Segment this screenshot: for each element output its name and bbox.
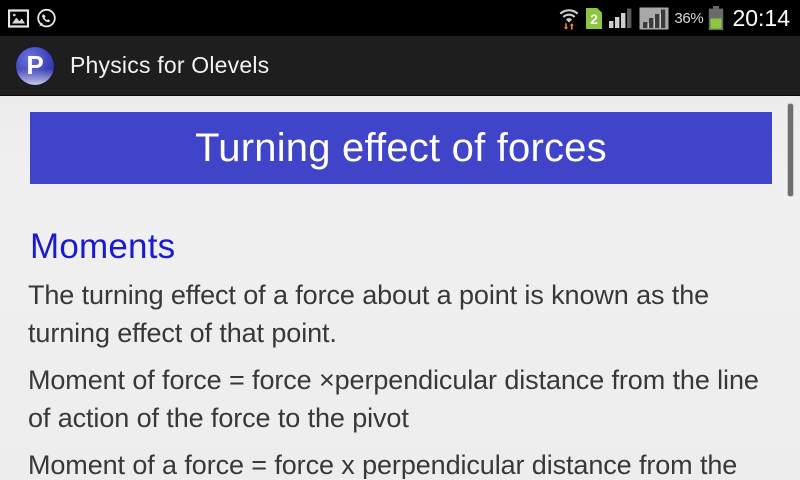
wifi-transfer-icon (558, 6, 580, 30)
status-bar-right-icons: 2 36% (558, 5, 790, 32)
battery-percent-label: 36% (674, 10, 703, 27)
app-bar: P Physics for Olevels (0, 36, 800, 96)
app-logo-p-icon: P (16, 47, 54, 85)
paragraph: Moment of force = force ×perpendicular d… (28, 361, 776, 437)
gallery-icon (8, 9, 29, 28)
signal-bars-sim1-icon (608, 7, 634, 29)
scrollbar-thumb[interactable] (788, 104, 793, 196)
content-area: Turning effect of forces Moments The tur… (0, 96, 800, 479)
section-heading: Moments (30, 229, 175, 264)
paragraph: The turning effect of a force about a po… (28, 276, 776, 352)
chapter-title: Turning effect of forces (195, 128, 607, 168)
battery-icon (708, 6, 724, 31)
chapter-title-banner: Turning effect of forces (30, 112, 772, 184)
vertical-scrollbar[interactable] (787, 104, 794, 479)
paragraph: Moment of a force = force x perpendicula… (28, 446, 776, 479)
app-logo-letter: P (26, 52, 43, 78)
status-bar: 2 36% (0, 0, 800, 36)
svg-text:2: 2 (590, 11, 598, 27)
status-bar-left-icons (8, 8, 57, 29)
sim-two-icon: 2 (585, 7, 603, 30)
app-title: Physics for Olevels (70, 52, 269, 79)
status-bar-clock: 20:14 (732, 5, 790, 32)
signal-bars-sim2-icon (639, 7, 669, 30)
whatsapp-icon (36, 8, 57, 29)
lesson-body: The turning effect of a force about a po… (28, 276, 776, 479)
